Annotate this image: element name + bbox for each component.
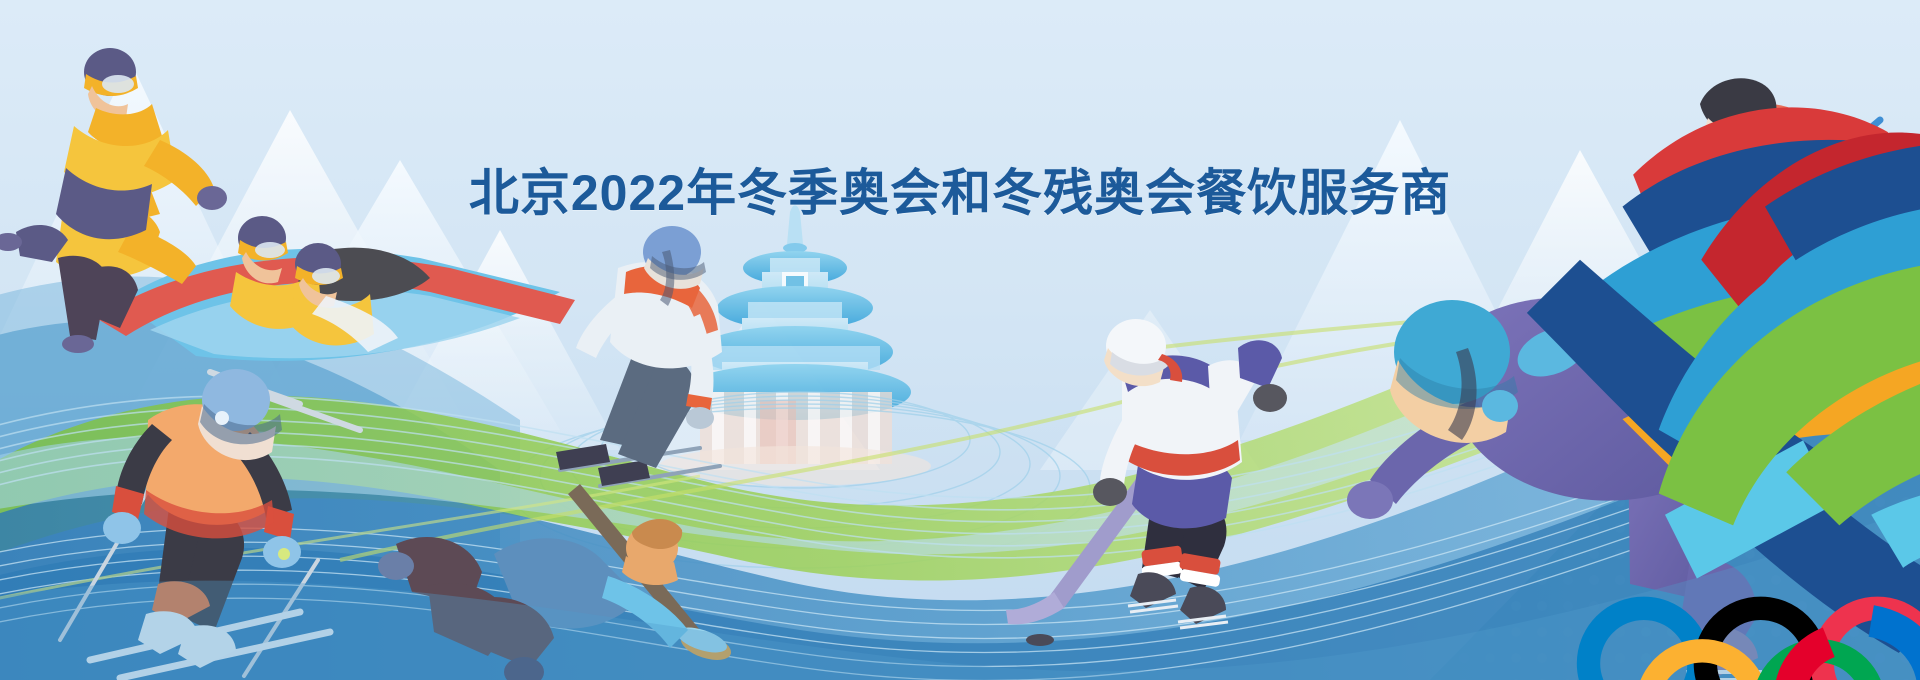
beijing-2022-banner: BEIJING 2022 BEIJING 2022 北京2022年冬季奥会和冬残…: [0, 0, 1920, 680]
beijing-2022-olympic-emblem: BEIJING 2022: [875, 26, 975, 680]
banner-title: 北京2022年冬季奥会和冬残奥会餐饮服务商: [0, 153, 1920, 225]
beijing-2022-paralympic-emblem: BEIJING 2022: [975, 26, 1075, 680]
paralympic-emblem-graphic: [975, 26, 1920, 680]
